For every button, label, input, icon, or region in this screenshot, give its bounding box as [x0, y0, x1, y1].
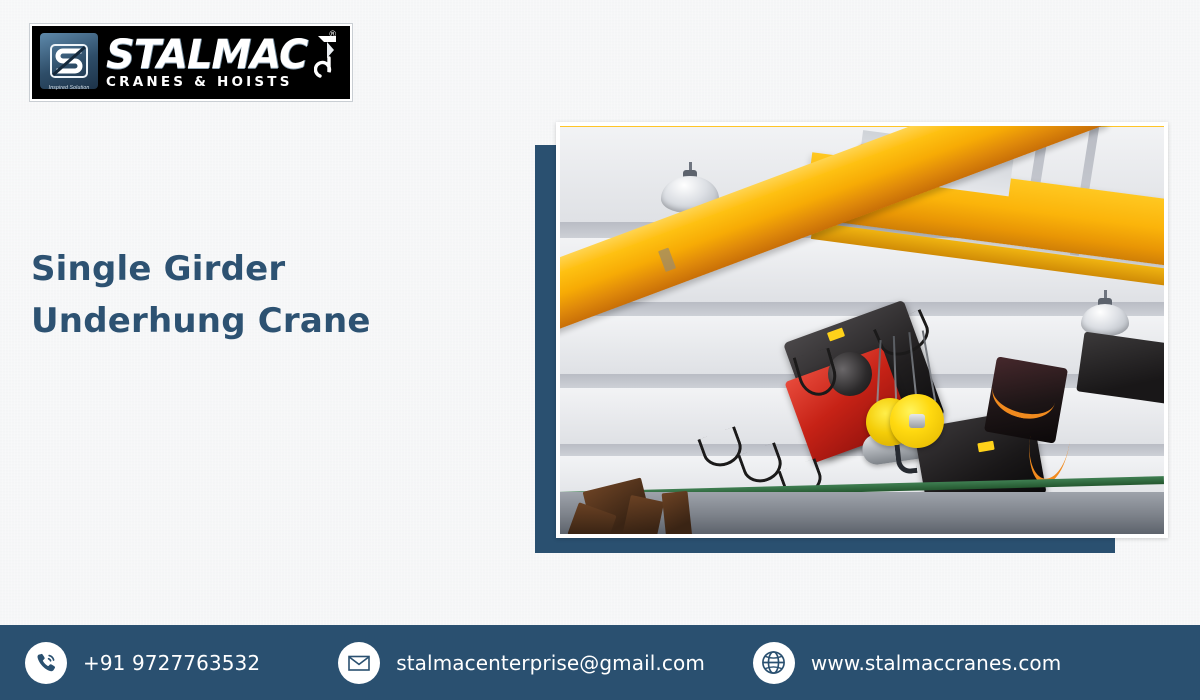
contact-website[interactable]: www.stalmaccranes.com	[753, 642, 1061, 684]
logo-brand-name: STALMAC	[106, 36, 342, 74]
website-url: www.stalmaccranes.com	[811, 651, 1061, 675]
email-address: stalmacenterprise@gmail.com	[396, 651, 705, 675]
photo-frame	[556, 122, 1168, 538]
page-title-line-1: Single Girder	[31, 243, 501, 295]
poster-canvas: Inspired Solution STALMAC CRANES & HOIST…	[0, 0, 1200, 700]
email-icon	[338, 642, 380, 684]
phone-icon	[25, 642, 67, 684]
logo-brand-tagline: CRANES & HOISTS	[106, 74, 342, 90]
logo-monogram-icon: Inspired Solution	[40, 33, 98, 89]
contact-email[interactable]: stalmacenterprise@gmail.com	[338, 642, 705, 684]
contact-phone[interactable]: +91 9727763532	[25, 642, 260, 684]
globe-icon	[753, 642, 795, 684]
phone-number: +91 9727763532	[83, 651, 260, 675]
page-title: Single Girder Underhung Crane	[31, 243, 501, 347]
logo-mark-tagline: Inspired Solution	[40, 85, 98, 91]
contact-footer: +91 9727763532 stalmacenterprise@gmail.c…	[0, 625, 1200, 700]
page-title-line-2: Underhung Crane	[31, 295, 501, 347]
crane-photo	[560, 126, 1164, 534]
logo-wordmark: STALMAC CRANES & HOISTS ®	[104, 26, 342, 99]
crane-hook-icon	[314, 34, 340, 92]
brand-logo: Inspired Solution STALMAC CRANES & HOIST…	[30, 24, 352, 101]
hook-block	[890, 394, 944, 448]
